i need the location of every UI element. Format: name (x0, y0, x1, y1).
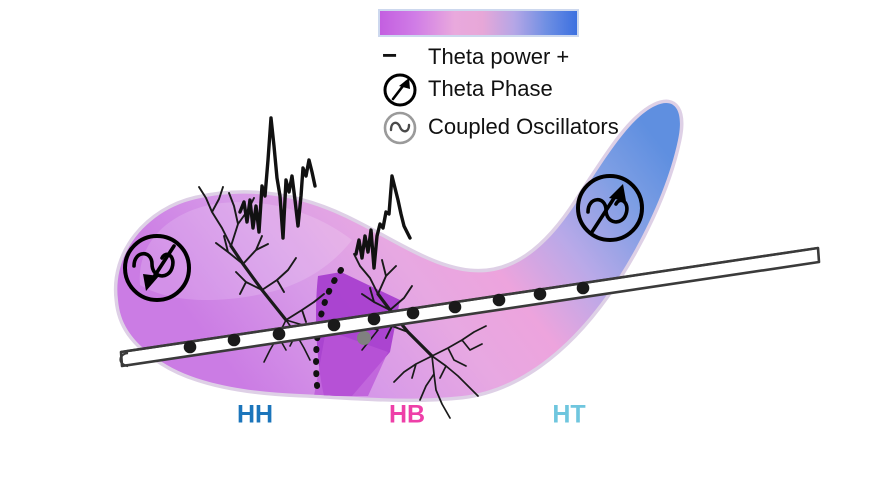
probe-contact (493, 294, 506, 307)
probe-contact (407, 307, 420, 320)
probe-contact (449, 301, 462, 314)
probe-contact (534, 288, 547, 301)
label-hh: HH (237, 401, 273, 429)
theta-power-minus-label: − (382, 40, 397, 70)
probe-contact (328, 319, 341, 332)
label-hb: HB (389, 401, 425, 429)
probe-contact (184, 341, 197, 354)
legend-label-coupled-oscillators: Coupled Oscillators (428, 114, 619, 139)
theta-power-caption: Theta power + (428, 44, 569, 69)
probe-contact (228, 334, 241, 347)
label-ht: HT (552, 401, 585, 429)
theta-power-colorbar (379, 10, 578, 36)
soma-marker (357, 331, 371, 345)
probe-contact (273, 328, 286, 341)
legend-label-theta-phase: Theta Phase (428, 76, 553, 101)
hippocampus-theta-figure: − Theta power + Theta Phase Coupled Osci… (0, 0, 886, 484)
probe-contact (577, 282, 590, 295)
probe-contact (368, 313, 381, 326)
